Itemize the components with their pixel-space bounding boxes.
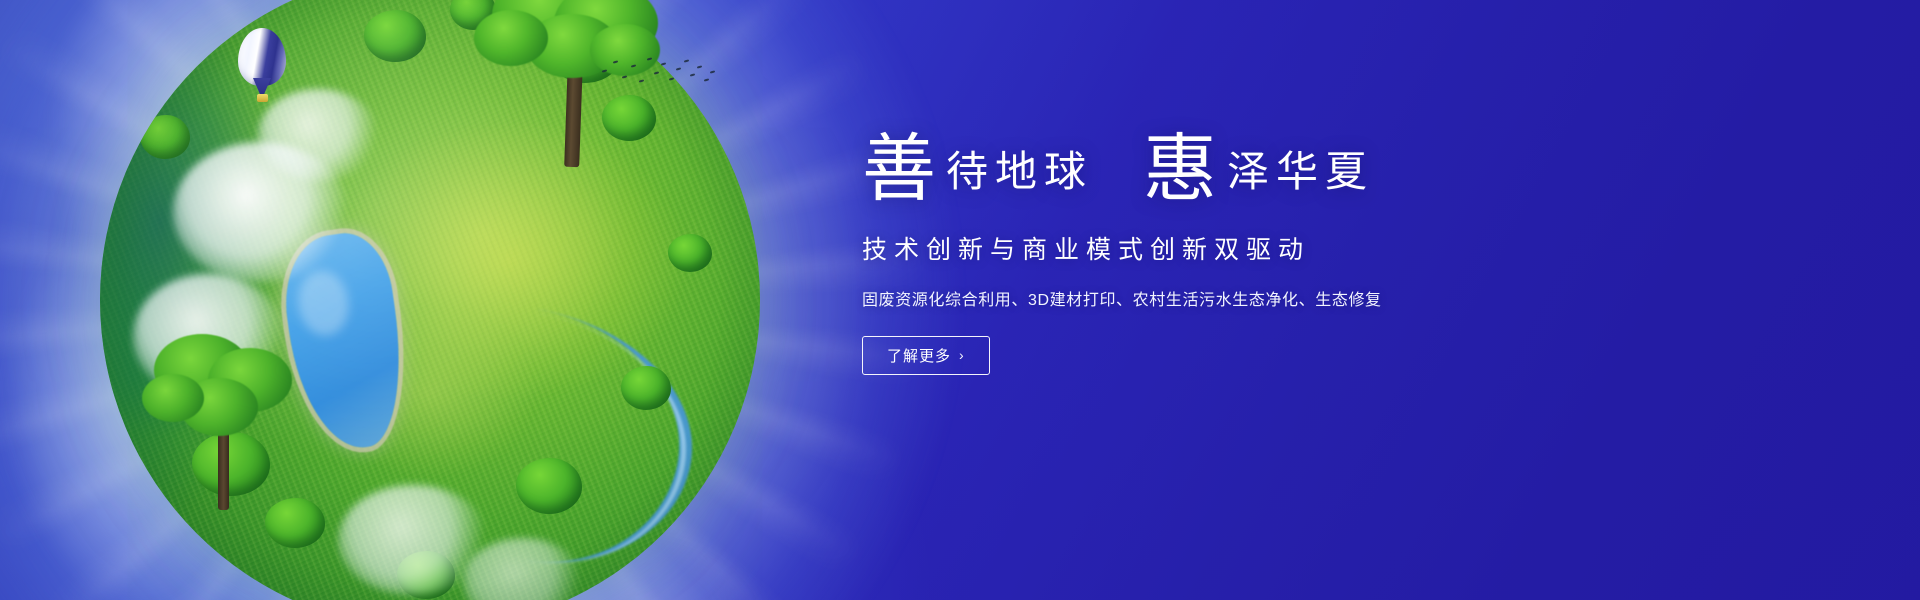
secondary-tree-icon [140, 330, 310, 510]
balloon-envelope [238, 28, 286, 86]
learn-more-label: 了解更多 [887, 345, 951, 366]
balloon-taper [253, 78, 271, 94]
headline-primary-char-1: 善 [862, 136, 936, 204]
hot-air-balloon-icon [238, 28, 286, 106]
learn-more-button[interactable]: 了解更多 › [862, 336, 990, 375]
chevron-right-icon: › [959, 348, 965, 362]
bird-flock-icon [598, 52, 718, 92]
headline-primary-char-2: 惠 [1143, 136, 1217, 204]
balloon-basket [257, 94, 268, 102]
page-subtitle: 技术创新与商业模式创新双驱动 [862, 230, 1742, 266]
tree-canopy [142, 374, 204, 422]
hero-banner: 善 待地球 惠 泽华夏 技术创新与商业模式创新双驱动 固废资源化综合利用、3D建… [0, 0, 1920, 600]
tree-canopy [474, 10, 548, 66]
tree-trunk [218, 426, 229, 510]
page-description: 固废资源化综合利用、3D建材打印、农村生活污水生态净化、生态修复 [862, 286, 1742, 310]
headline-primary-rest-1: 待地球 [936, 152, 1093, 200]
headline-primary-rest-2: 泽华夏 [1217, 152, 1374, 200]
hero-content: 善 待地球 惠 泽华夏 技术创新与商业模式创新双驱动 固废资源化综合利用、3D建… [862, 132, 1742, 375]
page-title: 善 待地球 惠 泽华夏 [862, 132, 1742, 200]
